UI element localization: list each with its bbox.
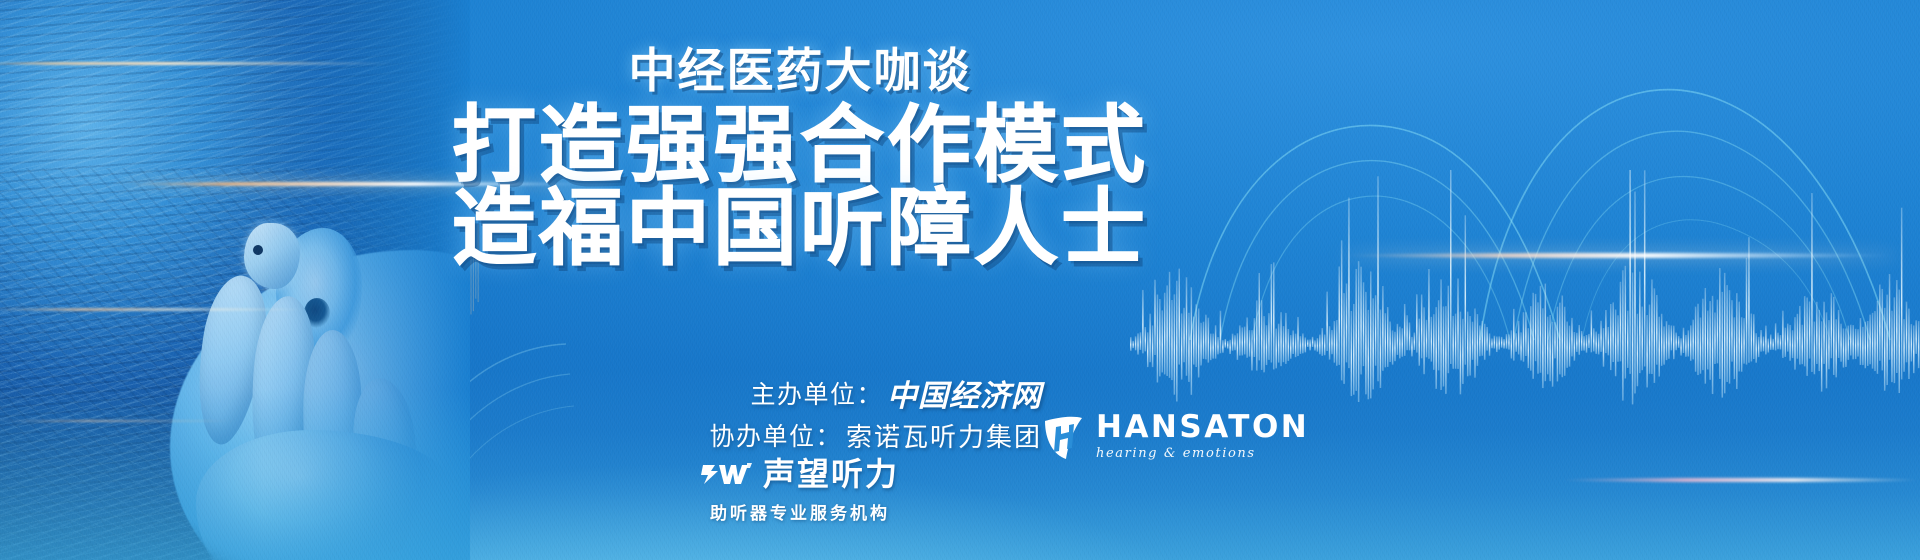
banner-kicker: 中经医药大咖谈 — [430, 48, 1170, 95]
service-logo-block: 声望听力 助听器专业服务机构 — [430, 458, 1170, 524]
coorganizer-name: 索诺瓦听力集团 — [846, 417, 1042, 454]
hansaton-h-icon — [1042, 413, 1090, 461]
hansaton-logo: HANSATON hearing & emotions — [1042, 412, 1309, 461]
organizer-label: 主办单位： — [750, 375, 883, 411]
hansaton-name: HANSATON — [1096, 412, 1309, 443]
sw-monogram-icon — [701, 461, 753, 487]
headline-line-2: 造福中国听障人士 — [430, 187, 1170, 270]
service-logo-subtitle: 助听器专业服务机构 — [710, 499, 890, 524]
kicker-text: 中经医药大咖谈 — [629, 48, 972, 95]
credit-row-organizer: 主办单位： 中国经济网 — [430, 372, 1170, 414]
hansaton-tagline: hearing & emotions — [1096, 446, 1309, 461]
organizer-name: 中国经济网 — [887, 371, 1042, 415]
coorganizer-label: 协办单位： — [709, 417, 842, 453]
promo-banner: 中经医药大咖谈 打造强强合作模式 造福中国听障人士 主办单位： 中国经济网 协办… — [0, 0, 1920, 560]
banner-headline: 打造强强合作模式 造福中国听障人士 — [430, 104, 1170, 270]
service-logo-row: 声望听力 — [701, 458, 899, 490]
headline-line-1: 打造强强合作模式 — [430, 104, 1170, 187]
service-logo-name: 声望听力 — [763, 458, 899, 490]
hansaton-wordmark: HANSATON hearing & emotions — [1096, 412, 1309, 461]
banner-content: 中经医药大咖谈 打造强强合作模式 造福中国听障人士 主办单位： 中国经济网 协办… — [430, 0, 1170, 560]
